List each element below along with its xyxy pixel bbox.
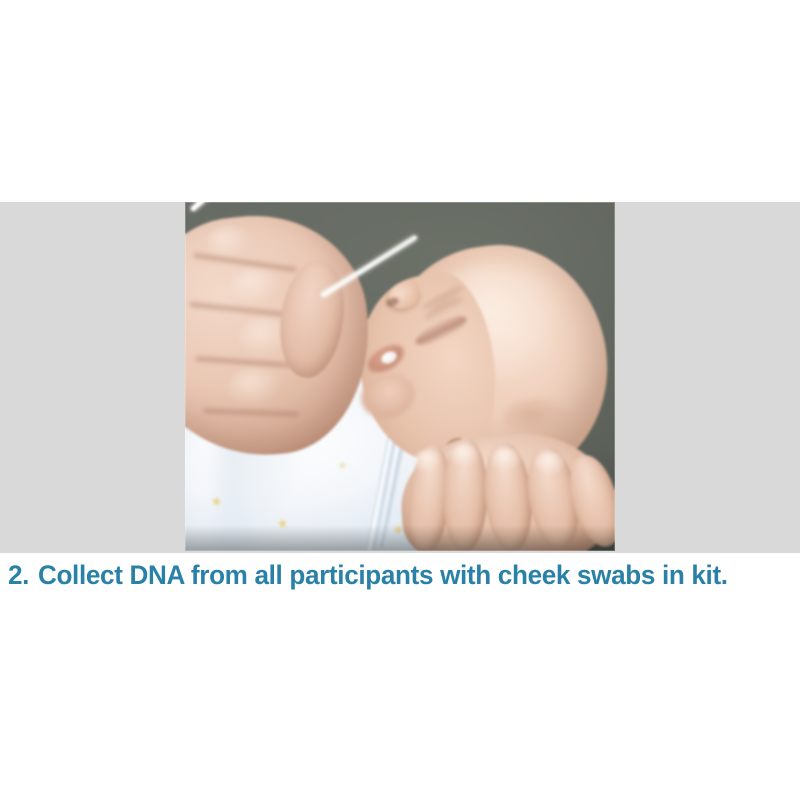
fingernail-highlight xyxy=(413,450,441,472)
swabbing-hand-knuckle xyxy=(229,368,283,408)
video-still-frame[interactable] xyxy=(185,202,615,551)
swabbing-hand-knuckle xyxy=(231,268,283,306)
caption-number: 2. xyxy=(8,560,29,591)
slide-canvas: 2. Collect DNA from all participants wit… xyxy=(0,0,800,800)
fingernail-highlight xyxy=(449,444,479,466)
baby-cheek-swab-photo xyxy=(185,202,615,551)
fingernail-highlight xyxy=(535,452,565,474)
slide-caption: 2. Collect DNA from all participants wit… xyxy=(8,556,788,594)
caption-text: Collect DNA from all participants with c… xyxy=(38,560,728,591)
fingernail-highlight xyxy=(491,448,521,470)
photo-bottom-shadow xyxy=(185,525,615,551)
